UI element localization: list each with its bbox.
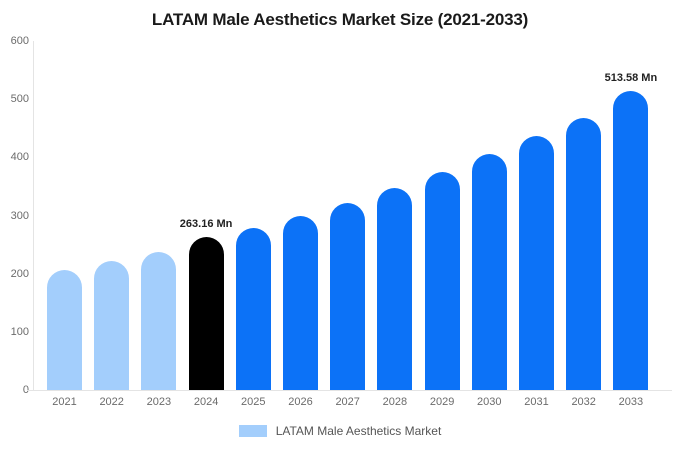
bar-column[interactable] <box>377 41 412 390</box>
x-axis-tick-label: 2027 <box>330 396 365 408</box>
bar-column[interactable] <box>472 41 507 390</box>
bar-value-label: 513.58 Mn <box>605 72 658 84</box>
bar-value-label: 263.16 Mn <box>180 218 233 230</box>
x-axis-tick-label: 2025 <box>236 396 271 408</box>
bar-column[interactable] <box>519 41 554 390</box>
bar-column[interactable] <box>425 41 460 390</box>
y-axis-tick-label: 500 <box>1 93 29 105</box>
bar-2025[interactable] <box>236 228 271 390</box>
bar-column[interactable]: 263.16 Mn <box>189 41 224 390</box>
bar-column[interactable] <box>236 41 271 390</box>
x-axis-tick-label: 2022 <box>94 396 129 408</box>
x-axis-tick-label: 2029 <box>425 396 460 408</box>
plot-area: 263.16 Mn513.58 Mn <box>34 41 672 390</box>
x-axis-tick-label: 2026 <box>283 396 318 408</box>
bar-2022[interactable] <box>94 261 129 390</box>
bar-2024[interactable] <box>189 237 224 390</box>
x-axis-tick-label: 2028 <box>377 396 412 408</box>
bar-2027[interactable] <box>330 203 365 390</box>
x-axis-tick-label: 2033 <box>613 396 648 408</box>
x-axis-tick-label: 2024 <box>189 396 224 408</box>
x-axis-tick-label: 2023 <box>141 396 176 408</box>
chart-title: LATAM Male Aesthetics Market Size (2021-… <box>0 10 680 30</box>
x-axis-tick-label: 2021 <box>47 396 82 408</box>
bar-2023[interactable] <box>141 252 176 390</box>
y-axis-tick-label: 100 <box>1 326 29 338</box>
bar-column[interactable] <box>141 41 176 390</box>
y-axis: 0100200300400500600 <box>0 0 29 450</box>
bar-column[interactable] <box>330 41 365 390</box>
chart-legend[interactable]: LATAM Male Aesthetics Market <box>0 424 680 438</box>
x-axis-tick-label: 2031 <box>519 396 554 408</box>
bar-2032[interactable] <box>566 118 601 390</box>
x-axis-tick-label: 2030 <box>472 396 507 408</box>
bar-column[interactable] <box>566 41 601 390</box>
bar-2028[interactable] <box>377 188 412 390</box>
bar-2026[interactable] <box>283 216 318 391</box>
bar-2029[interactable] <box>425 172 460 390</box>
x-axis-line <box>27 390 672 391</box>
y-axis-tick-label: 200 <box>1 268 29 280</box>
bar-column[interactable] <box>283 41 318 390</box>
bar-column[interactable] <box>47 41 82 390</box>
bar-column[interactable]: 513.58 Mn <box>613 41 648 390</box>
legend-swatch <box>239 425 267 437</box>
bar-2033[interactable] <box>613 91 648 390</box>
bar-2031[interactable] <box>519 136 554 390</box>
legend-label: LATAM Male Aesthetics Market <box>276 424 442 438</box>
y-axis-tick-label: 0 <box>1 384 29 396</box>
y-axis-tick-label: 400 <box>1 151 29 163</box>
bar-column[interactable] <box>94 41 129 390</box>
bar-chart: LATAM Male Aesthetics Market Size (2021-… <box>0 0 680 450</box>
y-axis-tick-label: 600 <box>1 35 29 47</box>
bar-2021[interactable] <box>47 270 82 390</box>
x-axis-tick-label: 2032 <box>566 396 601 408</box>
y-axis-tick-label: 300 <box>1 210 29 222</box>
bar-2030[interactable] <box>472 154 507 390</box>
